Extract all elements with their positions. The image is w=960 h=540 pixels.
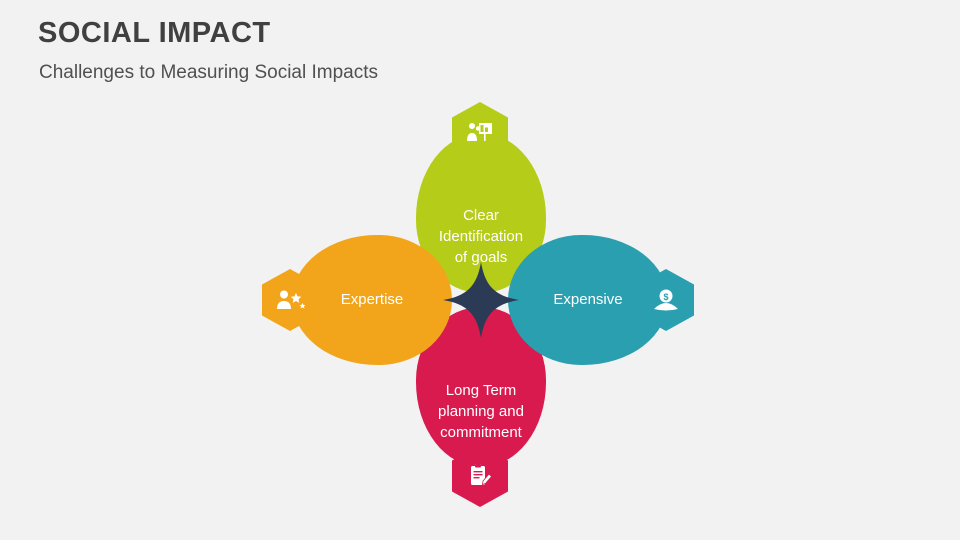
petal-top-label-line1: Clear [421, 205, 541, 226]
expert-star-icon [275, 287, 305, 313]
svg-text:$: $ [663, 292, 668, 302]
petal-bottom-label: Long Term planning and commitment [421, 380, 541, 443]
center-star [441, 260, 521, 340]
petal-right-label-line1: Expensive [528, 289, 648, 310]
petal-right-label: Expensive [528, 289, 648, 310]
petal-top-label-line2: Identification [421, 226, 541, 247]
petal-top-icon-badge[interactable] [452, 102, 508, 164]
petal-bottom-icon-badge[interactable] [452, 445, 508, 507]
page-title: SOCIAL IMPACT [38, 17, 271, 50]
people-presentation-icon [465, 119, 495, 147]
petal-bottom-label-line3: commitment [421, 422, 541, 443]
slide-canvas: SOCIAL IMPACT Challenges to Measuring So… [0, 0, 960, 540]
petal-bottom-label-line2: planning and [421, 401, 541, 422]
clipboard-pencil-icon [467, 462, 493, 490]
petal-right-icon-badge[interactable]: $ [638, 269, 694, 331]
radial-diagram: Clear Identification of goals Long Term … [240, 75, 720, 525]
petal-bottom-label-line1: Long Term [421, 380, 541, 401]
petal-left-label-line1: Expertise [312, 289, 432, 310]
petal-left-icon-badge[interactable] [262, 269, 318, 331]
money-hand-icon: $ [652, 287, 680, 313]
petal-left-label: Expertise [312, 289, 432, 310]
